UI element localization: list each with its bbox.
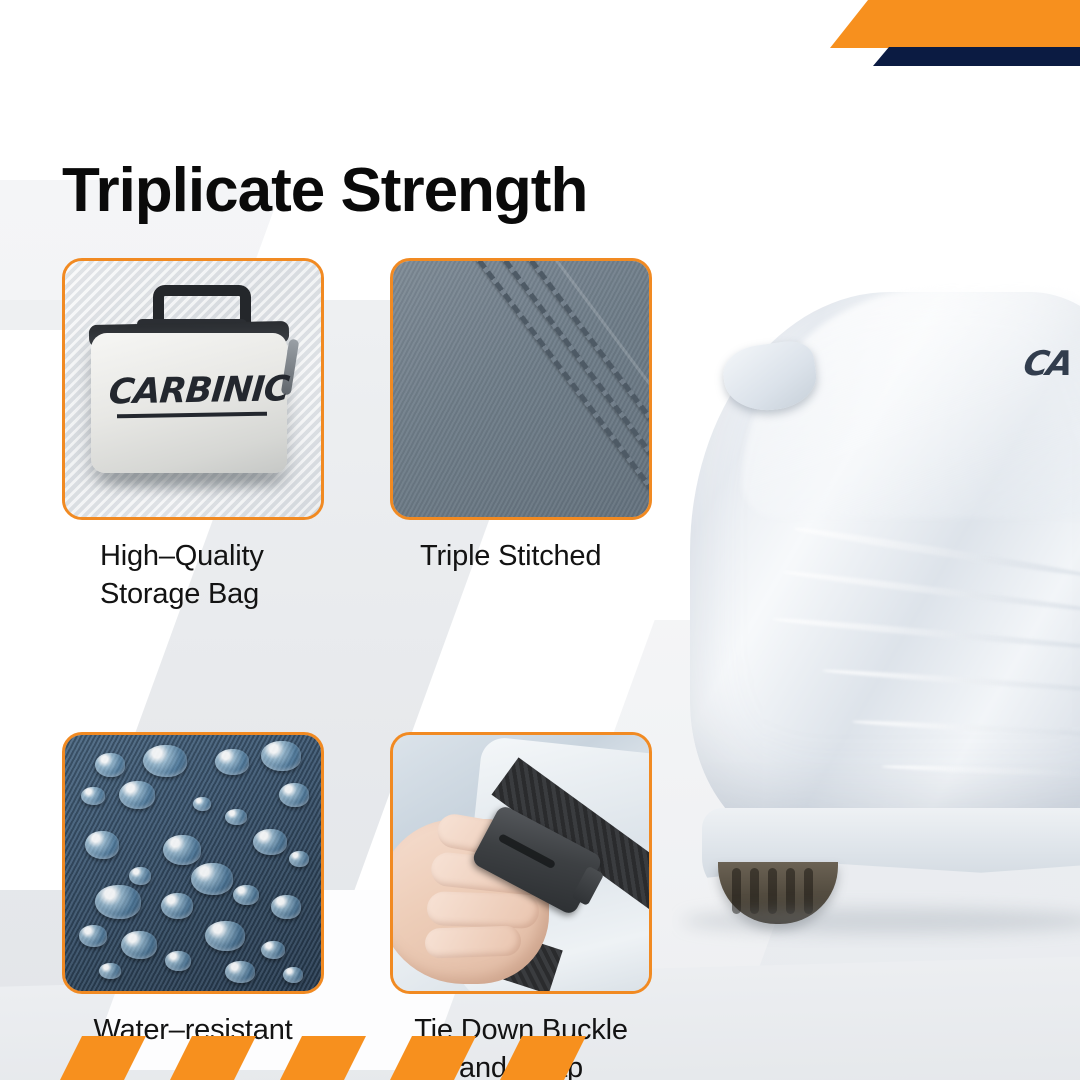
feature-thumbnail-water-resistant bbox=[62, 732, 324, 994]
car-cover-brand-logo: CA bbox=[1020, 344, 1074, 384]
water-resistant-image bbox=[65, 735, 321, 991]
page-title: Triplicate Strength bbox=[62, 160, 587, 222]
bottom-stripe-group bbox=[60, 1036, 586, 1080]
infographic-canvas: Triplicate Strength CA bbox=[0, 0, 1080, 1080]
orange-corner-ribbon bbox=[830, 0, 1080, 48]
feature-card-tie-down-buckle: Tie Down Buckle and Strap bbox=[390, 732, 652, 1080]
orange-stripe bbox=[60, 1036, 146, 1080]
caption-line-2: Storage Bag bbox=[100, 575, 324, 613]
feature-card-triple-stitched: Triple Stitched bbox=[390, 258, 652, 614]
feature-row-bottom: Water–resistant bbox=[62, 732, 662, 1080]
feature-thumbnail-triple-stitched bbox=[390, 258, 652, 520]
navy-corner-ribbon bbox=[873, 47, 1080, 66]
caption-line-1: Triple Stitched bbox=[420, 537, 652, 575]
orange-stripe bbox=[500, 1036, 586, 1080]
bag-brand-logo: CARBINIC bbox=[107, 370, 277, 413]
feature-thumbnail-storage-bag: CARBINIC bbox=[62, 258, 324, 520]
triple-stitch-image bbox=[393, 261, 649, 517]
orange-stripe bbox=[390, 1036, 476, 1080]
feature-card-storage-bag: CARBINIC High–Quality Storage Bag bbox=[62, 258, 324, 614]
feature-thumbnail-tie-down-buckle bbox=[390, 732, 652, 994]
orange-stripe bbox=[280, 1036, 366, 1080]
feature-grid: CARBINIC High–Quality Storage Bag bbox=[62, 258, 662, 1080]
car-ground-shadow bbox=[682, 908, 1080, 934]
orange-stripe bbox=[170, 1036, 256, 1080]
stitch-line bbox=[521, 258, 652, 515]
feature-card-water-resistant: Water–resistant bbox=[62, 732, 324, 1080]
feature-row-top: CARBINIC High–Quality Storage Bag bbox=[62, 258, 662, 614]
feature-caption-storage-bag: High–Quality Storage Bag bbox=[62, 537, 324, 614]
tie-down-buckle-image bbox=[393, 735, 649, 991]
storage-bag-image: CARBINIC bbox=[65, 261, 321, 517]
feature-caption-triple-stitched: Triple Stitched bbox=[390, 537, 652, 575]
product-photo-car-cover: CA bbox=[672, 248, 1080, 948]
caption-line-1: High–Quality bbox=[100, 537, 324, 575]
